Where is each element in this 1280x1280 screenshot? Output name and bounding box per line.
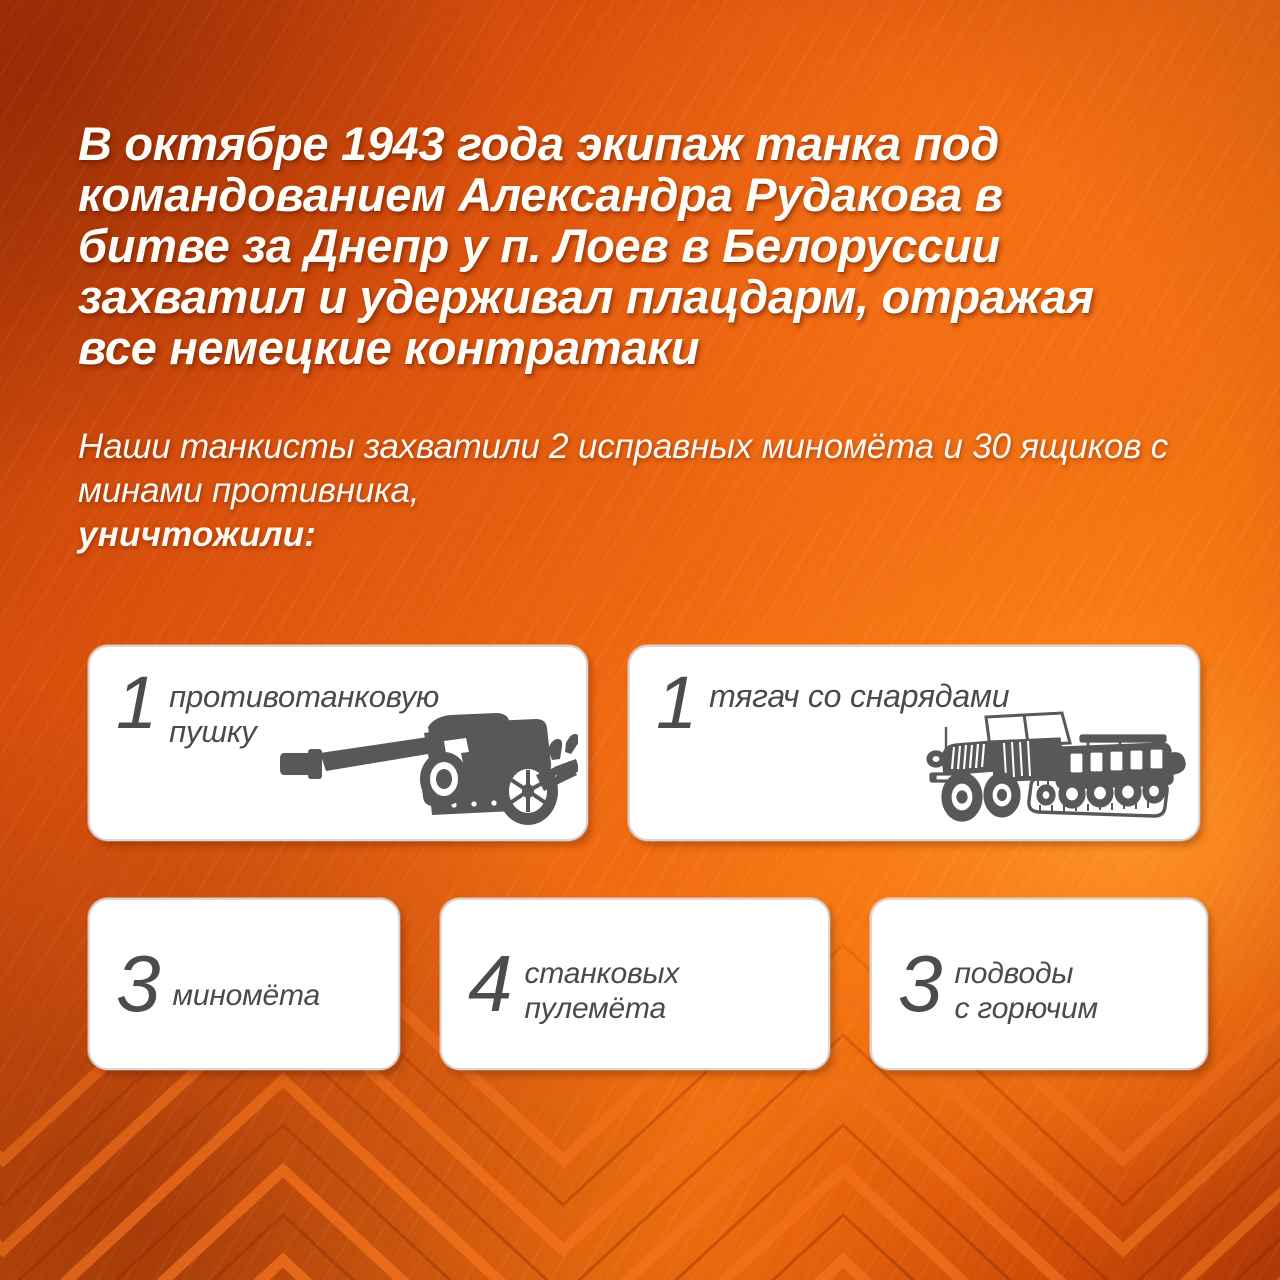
stat-label: миномёта xyxy=(173,956,320,1013)
stat-card-mortars: 3 миномёта xyxy=(88,898,400,1070)
stat-card-machine-guns: 4 станковых пулемёта xyxy=(440,898,830,1070)
poster-content: В октябре 1943 года экипаж танка под ком… xyxy=(0,118,1280,557)
subtitle-emphasis: уничтожили: xyxy=(78,513,1188,557)
stat-count: 1 xyxy=(656,671,695,735)
subtitle-block: Наши танкисты захватили 2 исправных мино… xyxy=(78,425,1188,557)
infographic-poster: В октябре 1943 года экипаж танка под ком… xyxy=(0,0,1280,1280)
page-title: В октябре 1943 года экипаж танка под ком… xyxy=(78,118,1158,373)
stat-label: тягач со снарядами xyxy=(709,671,1009,714)
stat-label: противотанковую пушку xyxy=(169,671,439,749)
stat-cards-row-bottom: 3 миномёта 4 станковых пулемёта 3 подвод… xyxy=(88,898,1208,1070)
stat-label: станковых пулемёта xyxy=(525,942,680,1026)
stat-cards-row-top: 1 противотанковую пушку xyxy=(88,645,1200,841)
stat-count: 3 xyxy=(898,950,941,1019)
stat-label: подводы с горючим xyxy=(955,942,1098,1026)
stat-card-anti-tank-gun: 1 противотанковую пушку xyxy=(88,645,588,841)
stat-count: 4 xyxy=(468,950,511,1019)
stat-card-fuel-carts: 3 подводы с горючим xyxy=(870,898,1208,1070)
stat-count: 1 xyxy=(116,671,155,735)
stat-card-tractor: 1 тягач со снарядами xyxy=(628,645,1200,841)
subtitle-line-1: Наши танкисты захватили 2 исправных xyxy=(78,427,752,466)
stat-count: 3 xyxy=(116,950,159,1019)
half-track-tractor-icon xyxy=(920,711,1188,829)
